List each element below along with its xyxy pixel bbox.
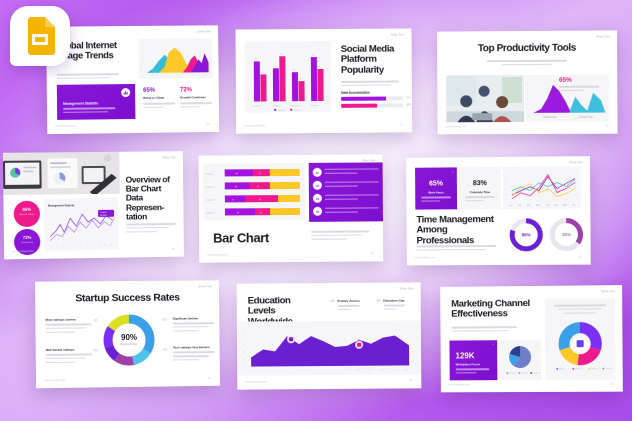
google-slides-logo[interactable]	[10, 6, 70, 66]
slide-header: Slide Title	[569, 161, 583, 164]
badge-1: 65% Rural vs Urban	[14, 201, 41, 227]
svg-text:35%: 35%	[562, 232, 571, 237]
progress-value: 72%	[406, 96, 411, 99]
list-number-badge: 03	[313, 194, 322, 203]
badge-value: 72%	[14, 235, 40, 240]
area-chart-panel: 865 321 1234 5678 9101112	[139, 38, 213, 79]
donut-label-04: Tech startups face barriers	[173, 346, 215, 363]
svg-text:Sep: Sep	[554, 205, 558, 207]
svg-text:Category 2: Category 2	[206, 186, 215, 189]
slide-bar-chart[interactable]: Slide Title Category 1Category 2 Categor…	[199, 154, 384, 262]
stacked-area-panel: 876 543 1234 5678 9101112 1314	[237, 320, 421, 375]
numbered-list-panel: 01 02 03	[309, 162, 383, 221]
svg-text:4: 4	[527, 94, 528, 96]
svg-text:14: 14	[405, 369, 407, 371]
item-title: Education Gap	[383, 298, 404, 302]
donut-2: 35%	[546, 214, 587, 254]
svg-text:Series 1: Series 1	[278, 110, 286, 112]
page-title: Social Media Platform Popularity	[341, 44, 407, 75]
svg-text:May: May	[536, 205, 540, 207]
stat-text	[421, 196, 451, 204]
progress-bar-1: 72%	[341, 96, 403, 101]
svg-text:Feb: Feb	[518, 205, 522, 207]
svg-text:11: 11	[110, 245, 112, 247]
svg-text:55: 55	[293, 70, 295, 72]
progress-bar-2: 58%	[341, 103, 403, 108]
label-title: Most startups survive	[45, 317, 91, 321]
slide-page-number: 02	[400, 122, 403, 126]
svg-text:Content One: Content One	[543, 116, 557, 119]
page-title: Marketing Channel Effectiveness	[451, 299, 539, 320]
stat-card-purple: ◐ 129K Workplace Focus	[449, 340, 497, 380]
svg-text:Series 3: Series 3	[533, 372, 540, 375]
slide-page-number: 05	[371, 251, 374, 255]
line-chart-panel: 765 432 JanFebMarMay JunSepNovDec	[503, 166, 582, 209]
donut-chart: 90% Rural vs Urban	[100, 311, 159, 370]
slide-time-management-among-professionals[interactable]: Slide Title ◐ 65% Work Hours ◐ 83% Commu…	[406, 156, 591, 265]
svg-text:3: 3	[274, 370, 275, 372]
label-title: Well funded startups	[46, 347, 92, 352]
svg-text:Series 1: Series 1	[559, 368, 566, 371]
slide-footer: yourcompany.com	[445, 125, 466, 128]
slide-footer: yourcompany.com	[207, 253, 228, 256]
svg-text:80%: 80%	[522, 232, 531, 237]
multi-line-chart: 765 432 JanFebMarMay JunSepNovDec	[503, 166, 582, 209]
svg-text:62: 62	[274, 66, 276, 68]
svg-text:4: 4	[68, 245, 69, 247]
svg-text:Series 3: Series 3	[591, 367, 598, 370]
svg-text:Mar: Mar	[527, 204, 531, 207]
chart-icon	[121, 88, 130, 97]
label-title: Significant decline	[173, 316, 215, 320]
svg-text:6: 6	[172, 75, 173, 77]
stat-value: 65%	[559, 77, 599, 84]
svg-text:4: 4	[243, 359, 245, 361]
pie-chart: Series 1 Series 2 Series 3	[499, 340, 541, 380]
svg-text:5: 5	[74, 245, 75, 247]
svg-text:Dec: Dec	[572, 204, 576, 206]
svg-text:Series 2: Series 2	[521, 372, 528, 375]
slide-footer: yourcompany.com	[244, 124, 265, 127]
svg-text:Category 4: Category 4	[206, 212, 215, 215]
svg-text:5: 5	[298, 370, 299, 372]
stat-value: 65%	[415, 180, 457, 187]
svg-text:Jan: Jan	[509, 205, 512, 207]
svg-text:2: 2	[152, 75, 153, 77]
slide-body	[417, 245, 497, 253]
slide-header: Slide Title	[601, 290, 615, 293]
svg-text:8: 8	[92, 245, 93, 247]
stat-label: Work Hours	[415, 190, 457, 194]
slide-page-number: 08	[409, 378, 412, 382]
line-chart-panel: Management Statistic Content 50.0000 123…	[44, 198, 119, 251]
svg-text:7: 7	[86, 245, 87, 247]
stat-text	[456, 368, 490, 376]
stat-card-grey: ◐ 83% Commute Time	[459, 167, 501, 209]
list-number: 04	[316, 209, 319, 213]
stat-label: Growth Continues	[180, 95, 212, 99]
sublabel: Data Accumulation	[341, 91, 370, 95]
svg-text:9: 9	[187, 74, 188, 76]
stat-block-1: 65% Rural vs Urban	[143, 88, 175, 111]
svg-text:6: 6	[505, 179, 506, 181]
svg-text:33: 33	[235, 186, 237, 188]
svg-text:58: 58	[318, 67, 320, 69]
item-01: 01 Primary Access	[331, 299, 377, 313]
card-corner-icon: ◐	[452, 169, 454, 173]
svg-text:7: 7	[243, 338, 245, 340]
svg-text:9: 9	[346, 370, 347, 372]
card-corner-icon: ◐	[496, 169, 498, 173]
svg-text:43: 43	[259, 199, 261, 201]
svg-text:Content: Content	[100, 211, 107, 214]
svg-text:32: 32	[299, 79, 301, 81]
svg-text:10: 10	[357, 370, 359, 372]
list-item: 04	[313, 206, 379, 215]
slide-page-number: 09	[611, 382, 614, 386]
list-text	[325, 194, 379, 202]
slide-footer: yourcompany.com	[44, 379, 65, 382]
card-corner-icon: ◐	[492, 342, 494, 346]
svg-text:2: 2	[56, 246, 57, 248]
stat-label: Commute Time	[459, 190, 501, 194]
donut-label-02: Significant decline	[173, 316, 215, 334]
svg-text:6: 6	[310, 370, 311, 372]
badge-value: 65%	[14, 207, 40, 212]
svg-text:10: 10	[192, 74, 194, 76]
svg-text:3: 3	[62, 245, 63, 247]
slide-social-media-platform-popularity[interactable]: Slide Title 7845 6285 5532 8858 Category…	[235, 28, 412, 133]
slides-document-icon	[25, 17, 55, 55]
svg-text:40: 40	[237, 212, 239, 214]
svg-text:3: 3	[505, 194, 506, 196]
svg-text:1: 1	[142, 71, 143, 73]
donut-number-01: 01	[94, 318, 98, 322]
svg-text:8: 8	[243, 331, 245, 333]
svg-text:9: 9	[98, 245, 99, 247]
svg-text:Category 3: Category 3	[206, 199, 215, 202]
svg-text:1: 1	[147, 75, 148, 77]
line-chart: Management Statistic Content 50.0000 123…	[44, 198, 119, 251]
svg-text:5: 5	[505, 184, 506, 186]
svg-text:3: 3	[157, 75, 158, 77]
list-text	[325, 181, 379, 189]
list-number: 03	[316, 196, 319, 200]
svg-text:50.0000: 50.0000	[100, 215, 106, 217]
svg-text:3: 3	[243, 365, 245, 367]
slide-header: Slide Title	[400, 287, 413, 290]
svg-text:88: 88	[312, 55, 314, 57]
stat-value: 83%	[459, 180, 501, 187]
svg-text:13: 13	[393, 370, 395, 372]
slide-body	[311, 230, 369, 242]
slide-page-number: 01	[207, 122, 210, 126]
svg-text:6: 6	[142, 52, 143, 54]
slide-body	[487, 60, 567, 66]
item-02: 02 Education Gap	[377, 298, 421, 312]
list-item: 02	[313, 180, 379, 189]
page-title: Bar Chart	[213, 231, 269, 245]
svg-text:5: 5	[142, 57, 143, 59]
area-chart: 865 321 1234 5678 9101112	[139, 38, 213, 79]
grouped-bar-chart: 7845 6285 5532 8858 Category 1Category 2…	[245, 41, 332, 113]
stat-value: 65%	[143, 88, 175, 94]
stat-text	[143, 103, 175, 109]
slide-footer: yourcompany.com	[55, 125, 76, 128]
slide-education-levels-worldwide[interactable]: Slide Title Education Levels Worldwide 0…	[237, 282, 422, 389]
item-number: 02	[377, 299, 381, 313]
svg-text:12: 12	[204, 74, 206, 76]
page-title: Time Management Among Professionals	[416, 215, 500, 246]
item-number: 01	[331, 299, 335, 313]
list-number: 01	[316, 170, 319, 174]
donut-center-value: 90%	[121, 333, 137, 342]
slide-footer: yourcompany.com	[415, 256, 436, 259]
donut-label-01: Most startups survive	[45, 317, 91, 335]
svg-text:12: 12	[381, 370, 383, 372]
svg-text:27: 27	[257, 186, 259, 188]
svg-text:1: 1	[527, 109, 528, 111]
svg-text:Category 2: Category 2	[271, 104, 282, 107]
slide-global-internet-usage-trends[interactable]: Slide Title Global Internet Usage Trends…	[46, 25, 219, 134]
desk-devices-photo	[3, 152, 120, 195]
svg-text:7: 7	[177, 75, 178, 77]
svg-text:7: 7	[505, 174, 506, 176]
svg-text:Series 2: Series 2	[575, 367, 582, 370]
list-number: 02	[316, 183, 319, 187]
slide-header: Slide Title	[198, 30, 211, 33]
stat-value: 72%	[180, 87, 212, 93]
svg-text:Category 1: Category 1	[252, 104, 263, 107]
svg-text:5: 5	[527, 89, 528, 91]
svg-text:4: 4	[286, 370, 287, 372]
item-title: Primary Access	[337, 299, 359, 303]
donut-chart-svg: Series 1 Series 2 Series 3 Series 4	[545, 319, 616, 376]
donut-1: 80%	[506, 215, 546, 255]
list-number-badge: 04	[313, 207, 322, 216]
donut-number-02: 02	[163, 318, 167, 322]
slide-page-number: 06	[578, 255, 581, 259]
slide-body	[451, 326, 517, 334]
svg-text:Series 1: Series 1	[509, 372, 516, 375]
donut-chart-panel: Series 1 Series 2 Series 3 Series 4	[545, 298, 616, 380]
svg-text:Jun: Jun	[546, 205, 549, 207]
page-title: Overview of Bar Chart Data Represen-tati…	[126, 175, 178, 221]
svg-text:Management Statistic: Management Statistic	[48, 203, 75, 207]
slide-footer: yourcompany.com	[449, 383, 470, 386]
slide-marketing-channel-effectiveness[interactable]: Slide Title Marketing Channel Effectiven…	[440, 285, 623, 392]
donut-chart-svg: 90% Rural vs Urban	[100, 311, 159, 370]
management-statistic-callout[interactable]: Management Statistic	[57, 84, 136, 120]
svg-text:6: 6	[80, 245, 81, 247]
stacked-bar-panel: Category 1Category 2 Category 3Category …	[203, 163, 305, 221]
slide-top-productivity-tools[interactable]: Slide Title Top Productivity Tools 654	[437, 30, 618, 134]
stacked-area-chart: 876 543 1234 5678 9101112 1314	[237, 320, 421, 375]
slide-footer: yourcompany.com	[245, 380, 266, 383]
slide-header: Slide Title	[199, 285, 212, 288]
list-number-badge: 02	[313, 181, 322, 190]
label-title: Tech startups face barriers	[173, 346, 215, 350]
svg-text:5: 5	[243, 352, 245, 354]
svg-text:Nov: Nov	[563, 204, 567, 206]
donut-label-03: Well funded startups	[46, 347, 92, 365]
svg-text:4: 4	[505, 189, 506, 191]
slide-body	[341, 80, 399, 88]
svg-text:2: 2	[527, 104, 528, 106]
slide-deck-mockup: Slide Title Global Internet Usage Trends…	[0, 0, 632, 421]
svg-text:85: 85	[280, 54, 282, 56]
svg-text:Category 3: Category 3	[290, 104, 301, 107]
svg-text:6: 6	[243, 345, 245, 347]
svg-text:8: 8	[142, 47, 143, 49]
slide-header: Slide Title	[391, 34, 404, 37]
svg-text:78: 78	[255, 59, 257, 61]
stat-label: Workplace Focus	[456, 362, 481, 366]
slide-page-number: 07	[208, 376, 211, 380]
svg-text:Series 2: Series 2	[294, 109, 302, 111]
slide-page-number: 03	[605, 124, 608, 128]
callout-label: Management Statistic	[63, 101, 98, 105]
svg-text:Series 4: Series 4	[605, 367, 612, 370]
slide-page-number: 04	[172, 247, 175, 251]
panel-body-text	[554, 304, 606, 314]
pie-chart-panel: ◐ Series 1 Series 2 Series 3	[499, 340, 541, 380]
svg-text:Category 4: Category 4	[309, 104, 320, 107]
svg-text:Category 1: Category 1	[206, 172, 215, 175]
svg-text:10: 10	[104, 245, 106, 247]
card-corner-icon: ◐	[536, 342, 538, 346]
stat-text	[559, 86, 599, 92]
svg-text:6: 6	[527, 84, 528, 86]
svg-text:22: 22	[259, 173, 261, 175]
list-item: 03	[313, 193, 379, 202]
svg-text:20: 20	[260, 212, 262, 214]
list-text	[325, 207, 379, 215]
svg-text:1: 1	[50, 246, 51, 248]
list-item: 01	[313, 167, 379, 176]
svg-text:3: 3	[142, 62, 143, 64]
page-title: Top Productivity Tools	[437, 43, 617, 55]
page-title: Startup Success Rates	[35, 292, 219, 305]
svg-text:3: 3	[527, 99, 528, 101]
slide-startup-success-rates[interactable]: Slide Title Startup Success Rates 90% Ru…	[35, 280, 220, 388]
svg-text:Content Two: Content Two	[579, 116, 593, 119]
bar-chart-panel: 7845 6285 5532 8858 Category 1Category 2…	[245, 41, 332, 113]
svg-text:4: 4	[162, 75, 163, 77]
svg-text:1: 1	[250, 371, 251, 373]
list-text	[325, 168, 379, 176]
stat-label: Rural vs Urban	[143, 96, 175, 100]
svg-text:45: 45	[261, 72, 263, 74]
stat-block-2: 72% Growth Continues	[180, 87, 212, 110]
slide-body	[57, 73, 119, 81]
list-number-badge: 01	[313, 168, 322, 177]
svg-text:11: 11	[198, 74, 200, 76]
team-photo	[446, 75, 524, 122]
svg-text:2: 2	[262, 370, 263, 372]
svg-text:2: 2	[142, 67, 143, 69]
stat-value: 129K	[455, 351, 474, 360]
callout-text	[63, 107, 115, 115]
svg-text:8: 8	[334, 370, 335, 372]
stat-block: 65%	[559, 77, 599, 94]
slide-body	[126, 223, 176, 235]
stat-card-purple: ◐ 65% Work Hours	[415, 167, 457, 209]
slide-footer: yourcompany.com	[12, 250, 33, 253]
donut-center-label: Rural vs Urban	[120, 342, 138, 346]
stat-text	[465, 196, 495, 204]
progress-value: 58%	[406, 103, 411, 106]
svg-text:2: 2	[505, 199, 506, 201]
svg-text:8: 8	[182, 74, 183, 76]
stacked-bar-chart: Category 1Category 2 Category 3Category …	[203, 163, 305, 221]
badge-label: Rural vs Urban	[14, 214, 40, 216]
slide-header: Slide Title	[596, 35, 610, 38]
stat-text	[180, 102, 212, 108]
svg-text:5: 5	[167, 75, 168, 77]
donut-number-03: 03	[94, 348, 98, 352]
badge-label: Growth Rate	[14, 242, 40, 244]
slide-overview-of-bar-chart-data[interactable]: Slide Title Overview of Bar Chart Data R…	[3, 151, 184, 259]
svg-text:38: 38	[236, 173, 238, 175]
donut-number-04: 04	[163, 348, 167, 352]
svg-text:11: 11	[369, 370, 371, 372]
slide-header: Slide Title	[163, 156, 176, 159]
svg-text:27: 27	[232, 199, 234, 201]
svg-text:7: 7	[322, 370, 323, 372]
